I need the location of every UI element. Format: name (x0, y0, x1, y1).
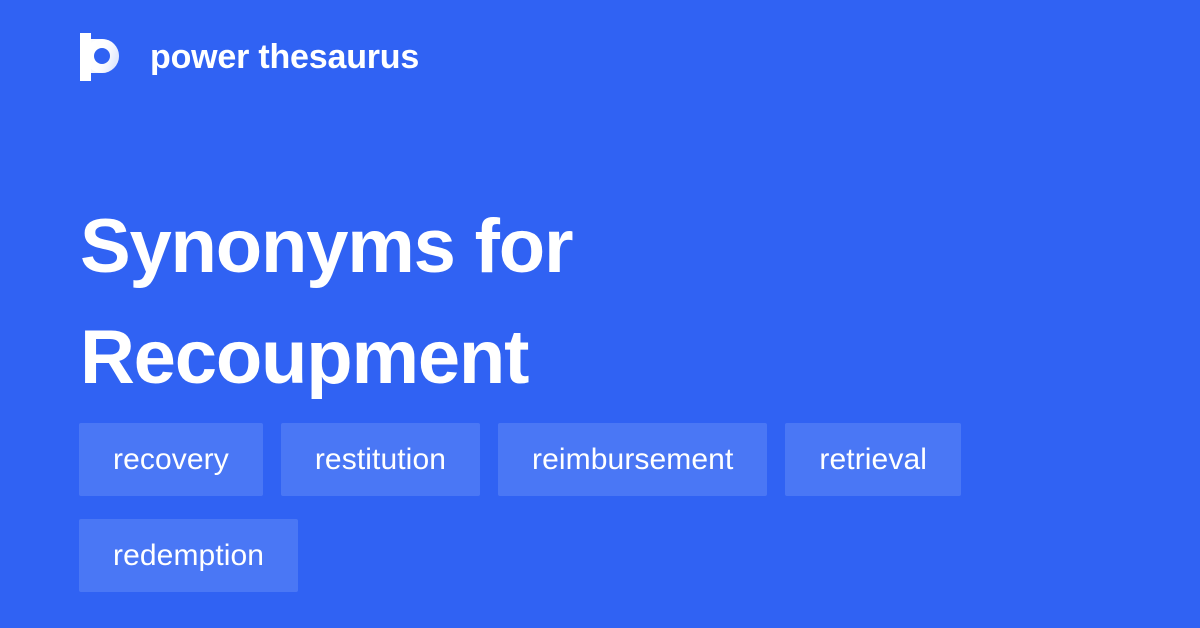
page-title-line-1: Synonyms for (80, 192, 1120, 303)
page-title: Synonyms for Recoupment (80, 192, 1120, 414)
synonym-tag[interactable]: restitution (281, 423, 480, 496)
synonym-tag-list: recoveryrestitutionreimbursementretrieva… (79, 423, 1139, 592)
power-thesaurus-b-logo-icon (80, 33, 126, 81)
synonym-tag[interactable]: retrieval (785, 423, 961, 496)
synonym-tag-row: recoveryrestitutionreimbursementretrieva… (79, 423, 1139, 496)
brand-name: power thesaurus (150, 40, 419, 74)
synonym-tag[interactable]: reimbursement (498, 423, 767, 496)
brand-logo[interactable]: power thesaurus (80, 29, 419, 85)
synonym-tag-row: redemption (79, 519, 1139, 592)
synonym-tag[interactable]: recovery (79, 423, 263, 496)
share-card: power thesaurus Synonyms for Recoupment … (0, 0, 1200, 628)
page-title-line-2: Recoupment (80, 303, 1120, 414)
synonym-tag[interactable]: redemption (79, 519, 298, 592)
